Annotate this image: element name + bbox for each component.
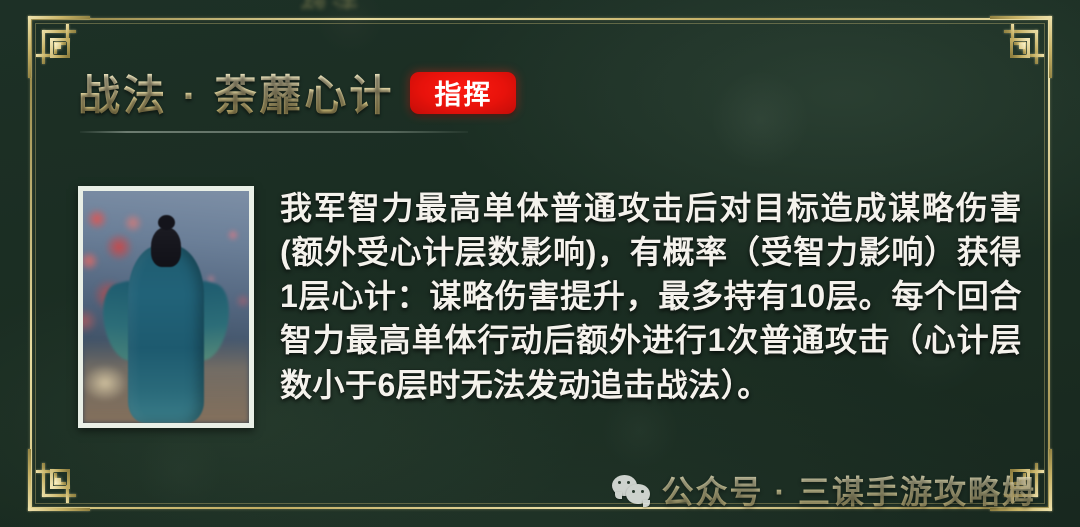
skill-description: 我军智力最高单体普通攻击后对目标造成谋略伤害(额外受心计层数影响)，有概率（受智… [280,186,1022,407]
portrait-robe [128,245,204,423]
skill-type-badge: 指挥 [410,72,516,114]
corner-ornament-bottom-left [28,449,90,511]
skill-card-screen: 战法 [0,0,1080,527]
watermark-text: 公众号 · 三谋手游攻略姆 [662,467,1036,513]
card-header: 战法 · 荼蘼心计 指挥 [78,62,516,123]
corner-ornament-bottom-right [990,449,1052,511]
skill-title: 战法 · 荼蘼心计 [78,62,394,123]
wechat-icon [612,475,652,505]
watermark: 公众号 · 三谋手游攻略姆 [612,467,1036,513]
top-bleed-text: 战法 [300,0,600,9]
card-body: 我军智力最高单体普通攻击后对目标造成谋略伤害(额外受心计层数影响)，有概率（受智… [78,186,1022,428]
portrait-hair-bun [158,215,175,230]
portrait-hair [151,227,181,267]
portrait-artwork [83,191,249,423]
character-portrait [78,186,254,428]
title-divider [80,131,468,133]
corner-ornament-top-right [990,16,1052,78]
